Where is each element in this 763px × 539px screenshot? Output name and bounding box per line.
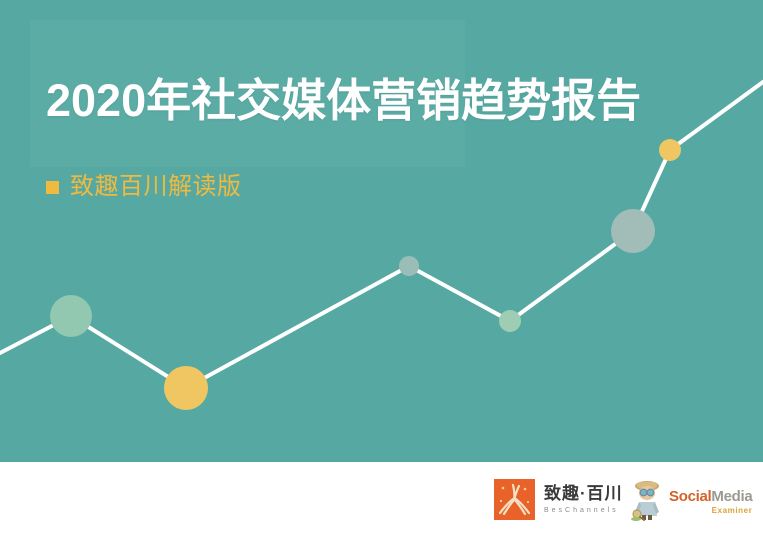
sme-name-social: Social bbox=[669, 488, 711, 505]
chart-data-point bbox=[611, 209, 655, 253]
background-line-chart bbox=[0, 0, 763, 462]
sme-name-examiner: Examiner bbox=[669, 507, 752, 515]
slide-canvas: 2020年社交媒体营销趋势报告 致趣百川解读版 bbox=[0, 0, 763, 539]
chart-data-point bbox=[50, 295, 92, 337]
square-bullet-icon bbox=[46, 181, 59, 194]
beschannels-wordmark: 致趣·百川 BesChannels bbox=[544, 485, 623, 514]
beschannels-name-cn: 致趣·百川 bbox=[544, 485, 623, 502]
sme-name-line1: SocialMedia bbox=[669, 489, 752, 504]
subtitle-row: 致趣百川解读版 bbox=[46, 173, 242, 201]
subtitle-label: 致趣百川解读版 bbox=[70, 173, 242, 201]
chart-data-point bbox=[499, 310, 521, 332]
chart-data-point bbox=[659, 139, 681, 161]
page-title: 2020年社交媒体营销趋势报告 bbox=[46, 72, 641, 130]
social-media-examiner-logo: SocialMedia Examiner bbox=[630, 477, 752, 521]
chart-data-point bbox=[399, 256, 419, 276]
chart-data-point bbox=[164, 366, 208, 410]
detective-mascot-icon bbox=[630, 477, 664, 521]
sme-name-media: Media bbox=[711, 488, 752, 505]
beschannels-logo-mark-icon bbox=[494, 479, 535, 520]
beschannels-name-en: BesChannels bbox=[544, 507, 623, 514]
social-media-examiner-wordmark: SocialMedia Examiner bbox=[669, 483, 752, 515]
beschannels-logo: 致趣·百川 BesChannels bbox=[494, 479, 623, 520]
